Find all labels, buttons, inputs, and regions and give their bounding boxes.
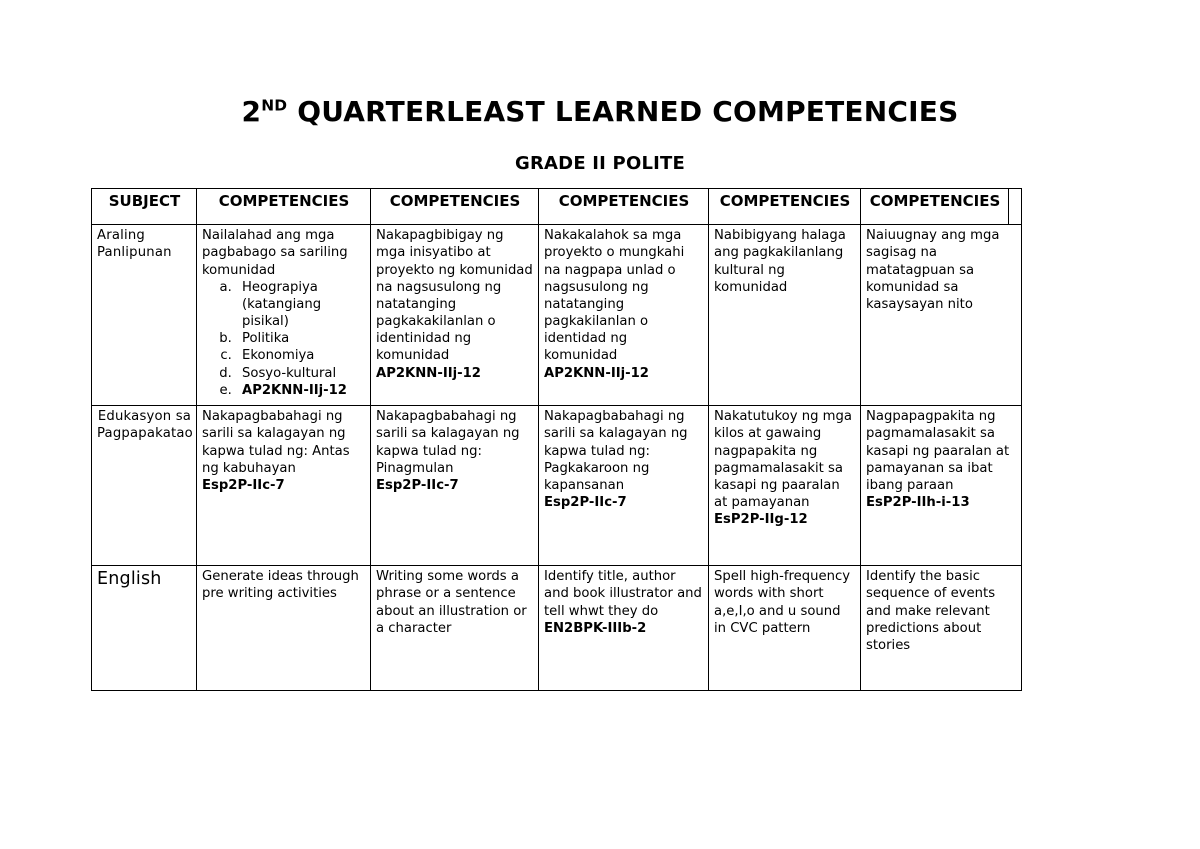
cell-text: Identify the basic sequence of events an… bbox=[866, 568, 1017, 654]
list-item: Heograpiya (katangiang pisikal) bbox=[236, 279, 366, 330]
competency-code: Esp2P-IIc-7 bbox=[202, 477, 366, 494]
competency-sublist: Heograpiya (katangiang pisikal) Politika… bbox=[216, 279, 366, 399]
document-page: 2ND QUARTERLEAST LEARNED COMPETENCIES GR… bbox=[0, 0, 1200, 849]
list-item: Politika bbox=[236, 330, 366, 347]
list-item: Ekonomiya bbox=[236, 347, 366, 364]
list-item: Sosyo-kultural bbox=[236, 365, 366, 382]
cell-ap-competency-2: Nakapagbibigay ng mga inisyatibo at proy… bbox=[371, 225, 539, 406]
competency-code: EN2BPK-IIIb-2 bbox=[544, 620, 704, 637]
cell-text: Generate ideas through pre writing activ… bbox=[202, 568, 366, 602]
column-header-competencies-5: COMPETENCIES bbox=[861, 189, 1009, 225]
cell-en-competency-1: Generate ideas through pre writing activ… bbox=[197, 566, 371, 691]
competency-code: Esp2P-IIc-7 bbox=[544, 494, 704, 511]
cell-text: Writing some words a phrase or a sentenc… bbox=[376, 568, 534, 637]
column-header-spacer bbox=[1009, 189, 1022, 225]
table-row: Edukasyon sa Pagpapakatao Nakapagbabahag… bbox=[92, 406, 1022, 566]
table-row: English Generate ideas through pre writi… bbox=[92, 566, 1022, 691]
competencies-table: SUBJECT COMPETENCIES COMPETENCIES COMPET… bbox=[91, 188, 1022, 691]
competencies-table-wrapper: SUBJECT COMPETENCIES COMPETENCIES COMPET… bbox=[91, 188, 1021, 691]
cell-text: Nagpapagpakita ng pagmamalasakit sa kasa… bbox=[866, 408, 1017, 494]
cell-en-competency-2: Writing some words a phrase or a sentenc… bbox=[371, 566, 539, 691]
competency-code: AP2KNN-IIj-12 bbox=[376, 365, 534, 382]
cell-ap-competency-3: Nakakalahok sa mga proyekto o mungkahi n… bbox=[539, 225, 709, 406]
list-item-code: AP2KNN-IIj-12 bbox=[236, 382, 366, 399]
cell-ap-competency-5: Naiuugnay ang mga sagisag na matatagpuan… bbox=[861, 225, 1022, 406]
competency-code: EsP2P-IIh-i-13 bbox=[866, 494, 1017, 511]
cell-text: Nakapagbabahagi ng sarili sa kalagayan n… bbox=[544, 408, 704, 494]
cell-esp-competency-1: Nakapagbabahagi ng sarili sa kalagayan n… bbox=[197, 406, 371, 566]
cell-ap-competency-1: Nailalahad ang mga pagbabago sa sariling… bbox=[197, 225, 371, 406]
cell-text: Nakapagbibigay ng mga inisyatibo at proy… bbox=[376, 227, 534, 364]
row-subject-araling-panlipunan: Araling Panlipunan bbox=[92, 225, 197, 406]
competency-code: Esp2P-IIc-7 bbox=[376, 477, 534, 494]
cell-text: Nailalahad ang mga pagbabago sa sariling… bbox=[202, 227, 366, 278]
cell-en-competency-5: Identify the basic sequence of events an… bbox=[861, 566, 1022, 691]
table-row: Araling Panlipunan Nailalahad ang mga pa… bbox=[92, 225, 1022, 406]
column-header-subject: SUBJECT bbox=[92, 189, 197, 225]
cell-text: Nakatutukoy ng mga kilos at gawaing nagp… bbox=[714, 408, 856, 511]
competency-code: EsP2P-IIg-12 bbox=[714, 511, 856, 528]
row-subject-edukasyon-sa-pagpapakatao: Edukasyon sa Pagpapakatao bbox=[92, 406, 197, 566]
title-number: 2 bbox=[242, 95, 262, 128]
cell-text: Nakapagbabahagi ng sarili sa kalagayan n… bbox=[202, 408, 366, 477]
title-ordinal-suffix: ND bbox=[261, 97, 287, 115]
column-header-competencies-3: COMPETENCIES bbox=[539, 189, 709, 225]
cell-ap-competency-4: Nabibigyang halaga ang pagkakilanlang ku… bbox=[709, 225, 861, 406]
cell-esp-competency-4: Nakatutukoy ng mga kilos at gawaing nagp… bbox=[709, 406, 861, 566]
page-title: 2ND QUARTERLEAST LEARNED COMPETENCIES bbox=[0, 97, 1200, 128]
cell-text: Spell high-frequency words with short a,… bbox=[714, 568, 856, 637]
competency-code: AP2KNN-IIj-12 bbox=[544, 365, 704, 382]
cell-text: Nakapagbabahagi ng sarili sa kalagayan n… bbox=[376, 408, 534, 477]
cell-text: Naiuugnay ang mga sagisag na matatagpuan… bbox=[866, 227, 1017, 313]
column-header-competencies-4: COMPETENCIES bbox=[709, 189, 861, 225]
cell-en-competency-4: Spell high-frequency words with short a,… bbox=[709, 566, 861, 691]
cell-en-competency-3: Identify title, author and book illustra… bbox=[539, 566, 709, 691]
column-header-competencies-2: COMPETENCIES bbox=[371, 189, 539, 225]
row-subject-english: English bbox=[92, 566, 197, 691]
cell-text: Nakakalahok sa mga proyekto o mungkahi n… bbox=[544, 227, 704, 364]
cell-esp-competency-5: Nagpapagpakita ng pagmamalasakit sa kasa… bbox=[861, 406, 1022, 566]
cell-text: Identify title, author and book illustra… bbox=[544, 568, 704, 619]
title-main-text: QUARTERLEAST LEARNED COMPETENCIES bbox=[297, 95, 958, 128]
column-header-competencies-1: COMPETENCIES bbox=[197, 189, 371, 225]
cell-text: Nabibigyang halaga ang pagkakilanlang ku… bbox=[714, 227, 856, 296]
page-subtitle: GRADE II POLITE bbox=[0, 153, 1200, 174]
cell-esp-competency-3: Nakapagbabahagi ng sarili sa kalagayan n… bbox=[539, 406, 709, 566]
cell-esp-competency-2: Nakapagbabahagi ng sarili sa kalagayan n… bbox=[371, 406, 539, 566]
table-header-row: SUBJECT COMPETENCIES COMPETENCIES COMPET… bbox=[92, 189, 1022, 225]
